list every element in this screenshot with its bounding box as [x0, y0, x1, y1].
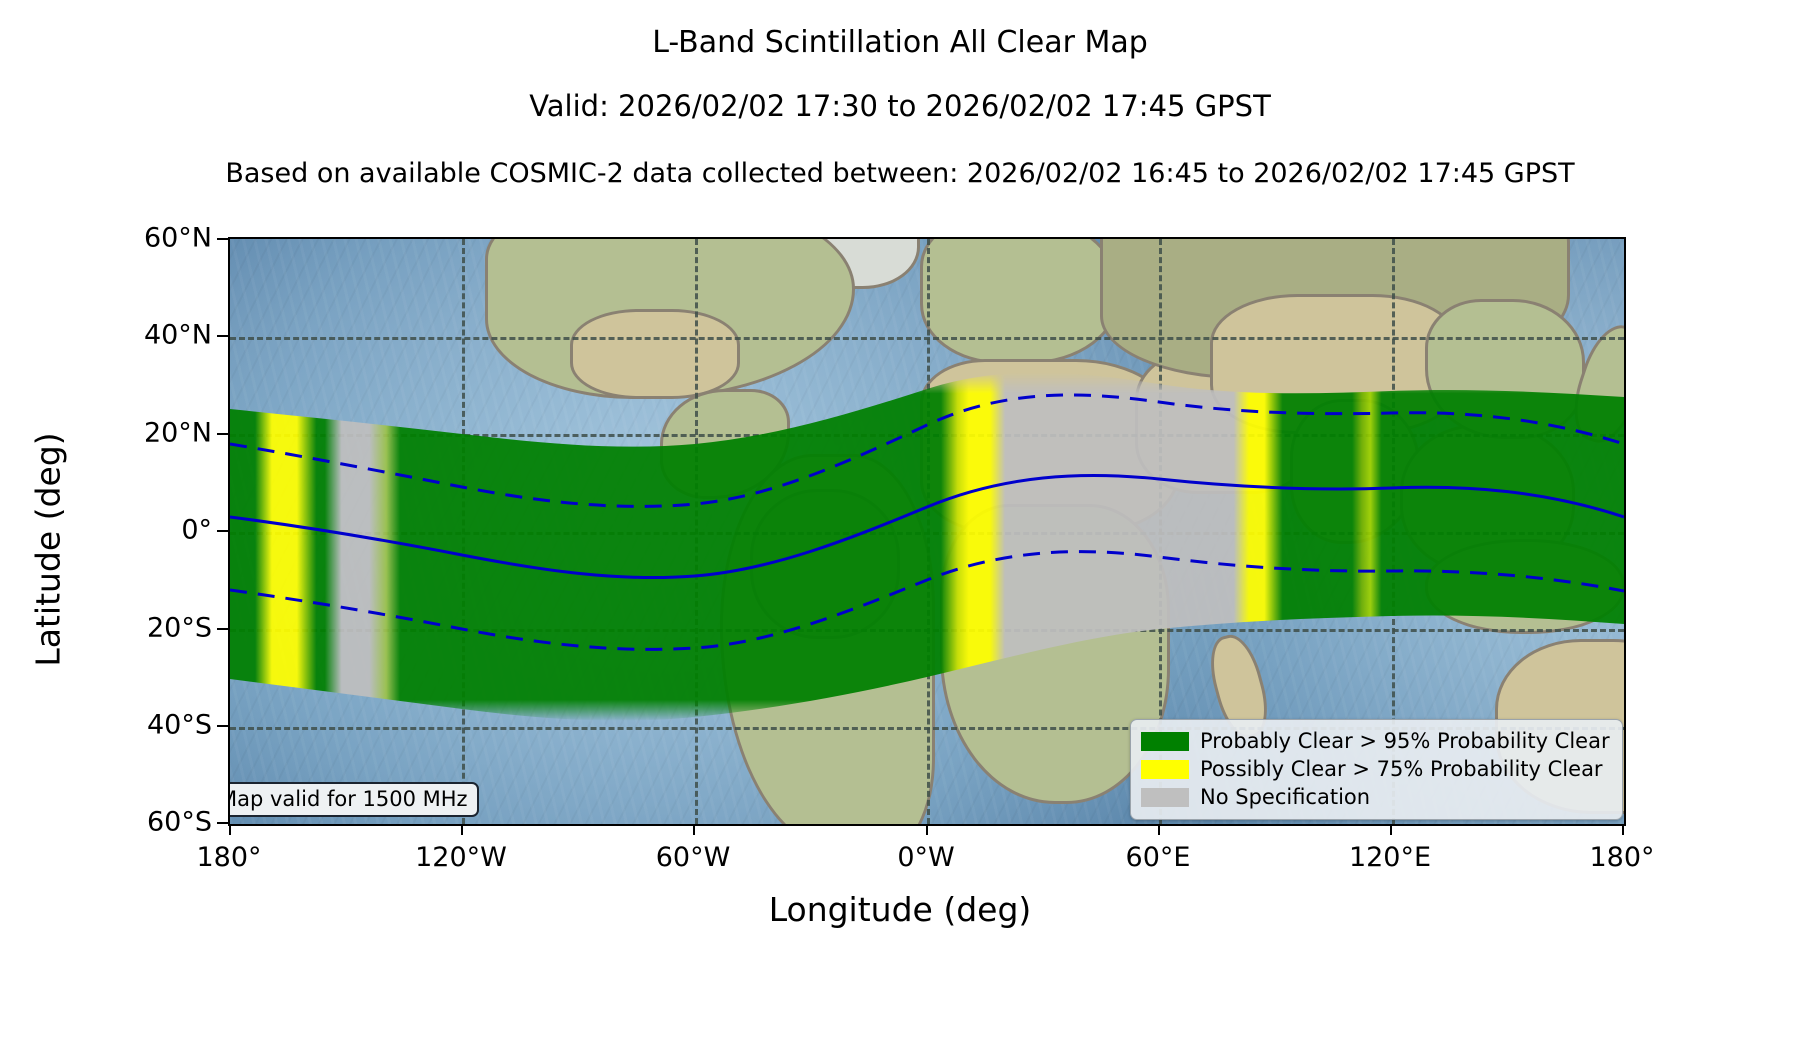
frequency-annotation: Map valid for 1500 MHz — [228, 782, 479, 817]
x-axis-label: Longitude (deg) — [0, 890, 1800, 929]
ytick-label-60n: 60°N — [144, 223, 212, 254]
xtick-mark-180e — [1622, 824, 1624, 835]
validity-subtitle: Valid: 2026/02/02 17:30 to 2026/02/02 17… — [0, 89, 1800, 123]
legend-swatch-probably-clear — [1141, 732, 1189, 751]
ytick-label-20s: 20°S — [147, 613, 212, 644]
figure: L-Band Scintillation All Clear Map Valid… — [0, 0, 1800, 1050]
ytick-mark-60n — [217, 238, 228, 240]
xtick-mark-60w — [693, 824, 695, 835]
ytick-label-0: 0° — [181, 515, 212, 546]
legend-label-no-specification: No Specification — [1200, 785, 1370, 809]
xtick-label-60w: 60°W — [656, 842, 731, 873]
xtick-label-120w: 120°W — [415, 842, 507, 873]
xtick-mark-120w — [461, 824, 463, 835]
xtick-mark-60e — [1158, 824, 1160, 835]
xtick-mark-0 — [926, 824, 928, 835]
ytick-label-40n: 40°N — [144, 320, 212, 351]
map-legend: Probably Clear > 95% Probability Clear P… — [1130, 719, 1623, 820]
ytick-mark-40n — [217, 335, 228, 337]
y-axis-label: Latitude (deg) — [29, 270, 68, 830]
legend-item-probably-clear: Probably Clear > 95% Probability Clear — [1141, 727, 1610, 755]
ytick-mark-40s — [217, 725, 228, 727]
map-plot-area: Map valid for 1500 MHz Probably Clear > … — [228, 237, 1626, 826]
frequency-annotation-text: Map valid for 1500 MHz — [228, 787, 468, 811]
legend-label-probably-clear: Probably Clear > 95% Probability Clear — [1200, 729, 1610, 753]
ytick-mark-0 — [217, 530, 228, 532]
xtick-label-180e: 180° — [1589, 842, 1654, 873]
ytick-label-40s: 40°S — [147, 710, 212, 741]
legend-item-possibly-clear: Possibly Clear > 75% Probability Clear — [1141, 755, 1610, 783]
xtick-mark-180w — [229, 824, 231, 835]
ytick-mark-60s — [217, 822, 228, 824]
xtick-mark-120e — [1390, 824, 1392, 835]
xtick-label-180w: 180° — [196, 842, 261, 873]
xtick-label-120e: 120°E — [1349, 842, 1431, 873]
ytick-label-20n: 20°N — [144, 418, 212, 449]
legend-swatch-no-specification — [1141, 788, 1189, 807]
legend-swatch-possibly-clear — [1141, 760, 1189, 779]
ytick-label-60s: 60°S — [147, 807, 212, 838]
xtick-label-0: 0°W — [897, 842, 954, 873]
data-source-subtitle: Based on available COSMIC-2 data collect… — [0, 158, 1800, 189]
page-title: L-Band Scintillation All Clear Map — [0, 25, 1800, 60]
ytick-mark-20n — [217, 433, 228, 435]
ytick-mark-20s — [217, 628, 228, 630]
legend-item-no-specification: No Specification — [1141, 783, 1610, 811]
legend-label-possibly-clear: Possibly Clear > 75% Probability Clear — [1200, 757, 1603, 781]
xtick-label-60e: 60°E — [1126, 842, 1191, 873]
